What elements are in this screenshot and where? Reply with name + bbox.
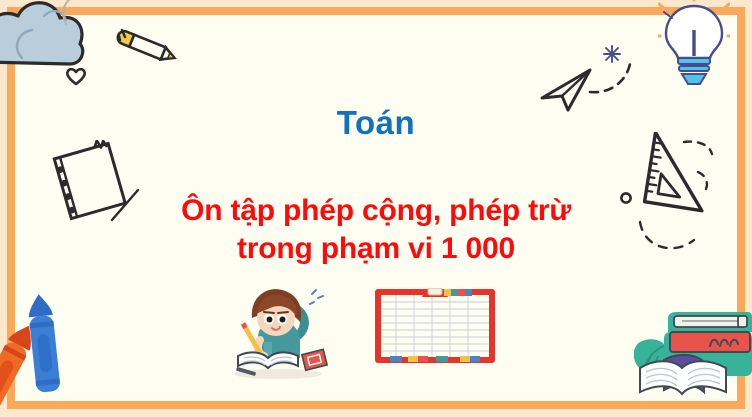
pencil-icon [116, 28, 186, 75]
cloud-swirl-doodle [56, 0, 82, 28]
grid-worksheet-illustration [374, 288, 496, 369]
orange-crayon-icon [0, 320, 48, 417]
stacked-books-illustration [634, 302, 752, 403]
lesson-title-line-2: trong phạm vi 1 000 [60, 230, 692, 268]
heart-icon [65, 66, 87, 91]
subject-title: Toán [0, 104, 752, 142]
sparkle-icon [602, 44, 622, 64]
light-bulb-icon [658, 0, 730, 105]
slide-canvas: Toán Ôn tập phép cộng, phép trừ trong ph… [0, 0, 752, 417]
lesson-title-line-1: Ôn tập phép cộng, phép trừ [60, 192, 692, 230]
lesson-title: Ôn tập phép cộng, phép trừ trong phạm vi… [60, 192, 692, 269]
boy-studying-illustration [224, 282, 330, 385]
